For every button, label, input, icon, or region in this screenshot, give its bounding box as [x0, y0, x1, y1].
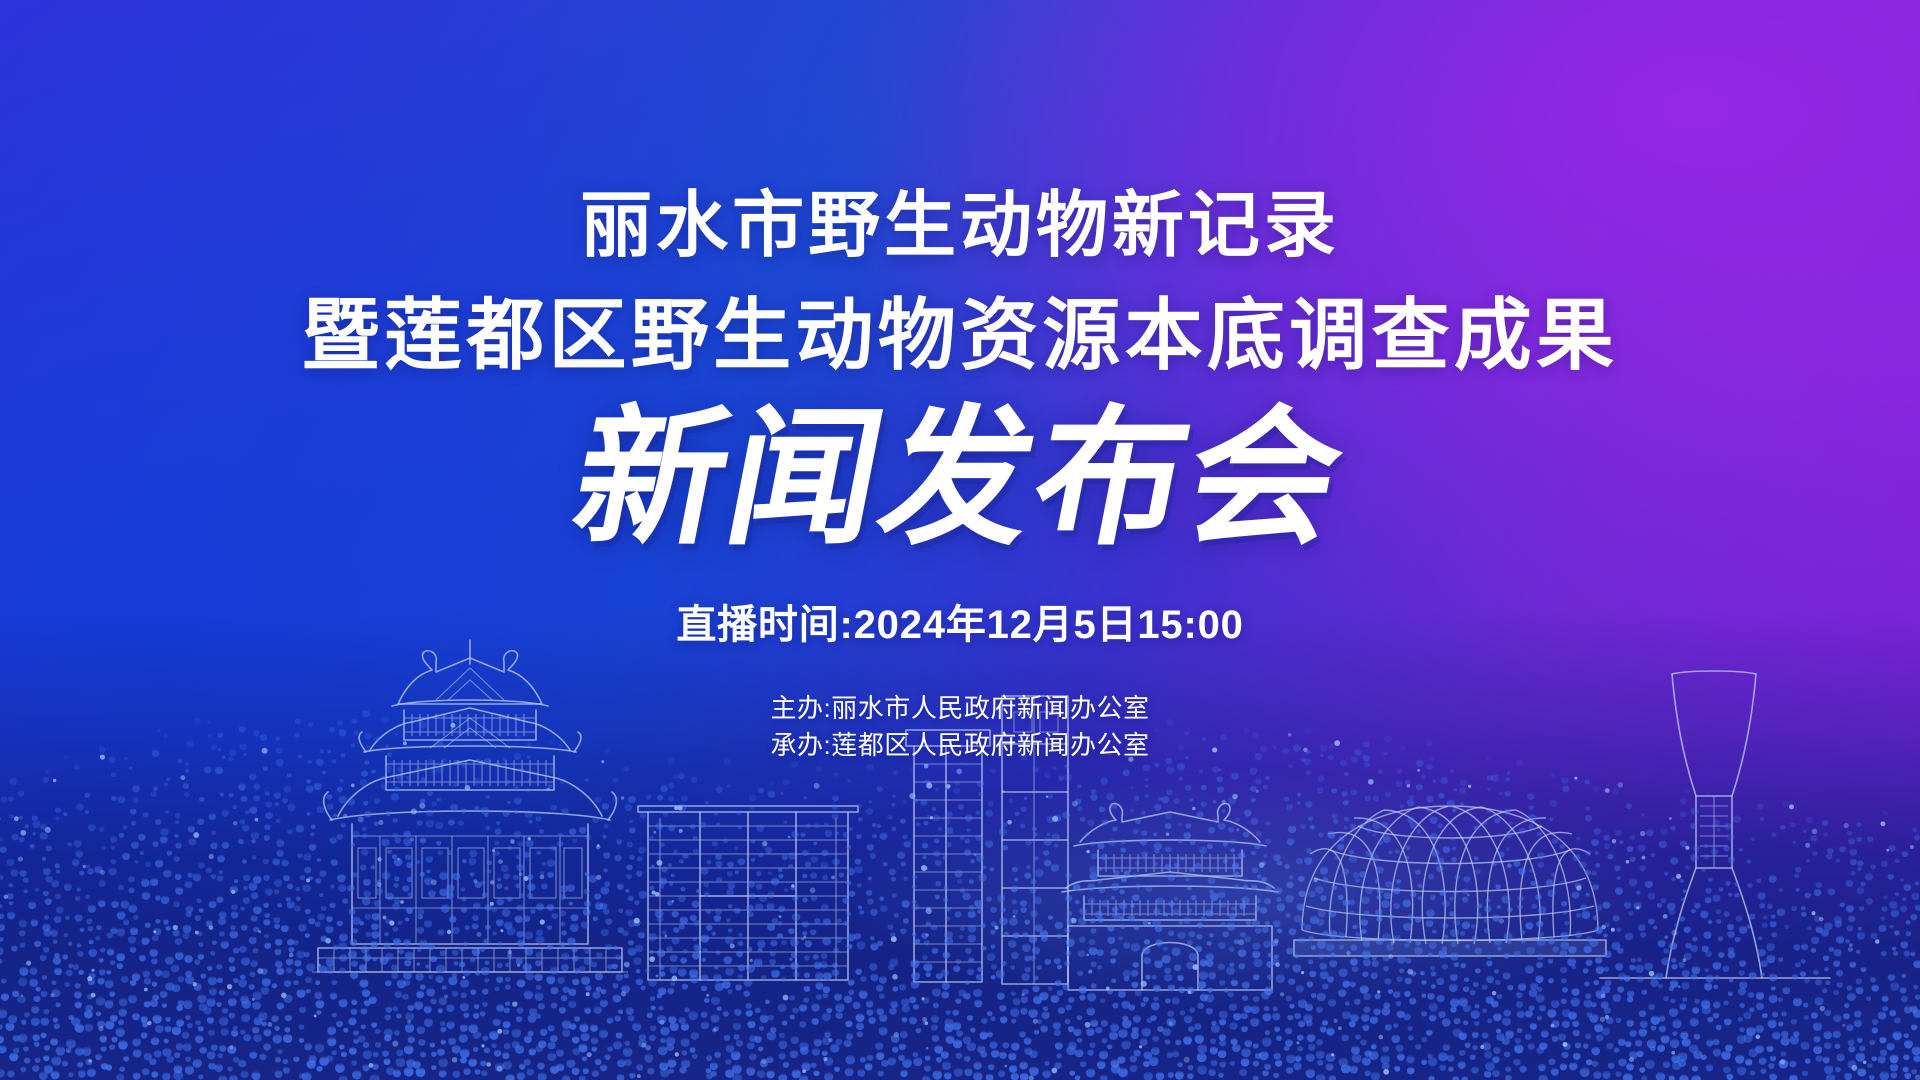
modern-office-block-icon [638, 806, 858, 980]
poster-canvas: 丽水市野生动物新记录 暨莲都区野生动物资源本底调查成果 新闻发布会 直播时间:2… [0, 0, 1920, 1080]
main-headline: 新闻发布会 [0, 400, 1920, 556]
high-rise-tower-icon [906, 730, 990, 982]
organizer-line-coordinator: 承办:莲都区人民政府新闻办公室 [0, 727, 1920, 764]
broadcast-time: 直播时间:2024年12月5日15:00 [0, 592, 1920, 650]
title-line-1: 丽水市野生动物新记录 [0, 190, 1920, 262]
title-line-2: 暨莲都区野生动物资源本底调查成果 [0, 296, 1920, 374]
organizer-block: 主办:丽水市人民政府新闻办公室 承办:莲都区人民政府新闻办公室 [0, 690, 1920, 764]
city-gate-icon [1062, 804, 1278, 990]
poster-text-content: 丽水市野生动物新记录 暨莲都区野生动物资源本底调查成果 新闻发布会 直播时间:2… [0, 0, 1920, 764]
stadium-dome-icon [1294, 806, 1606, 956]
organizer-line-host: 主办:丽水市人民政府新闻办公室 [0, 690, 1920, 727]
